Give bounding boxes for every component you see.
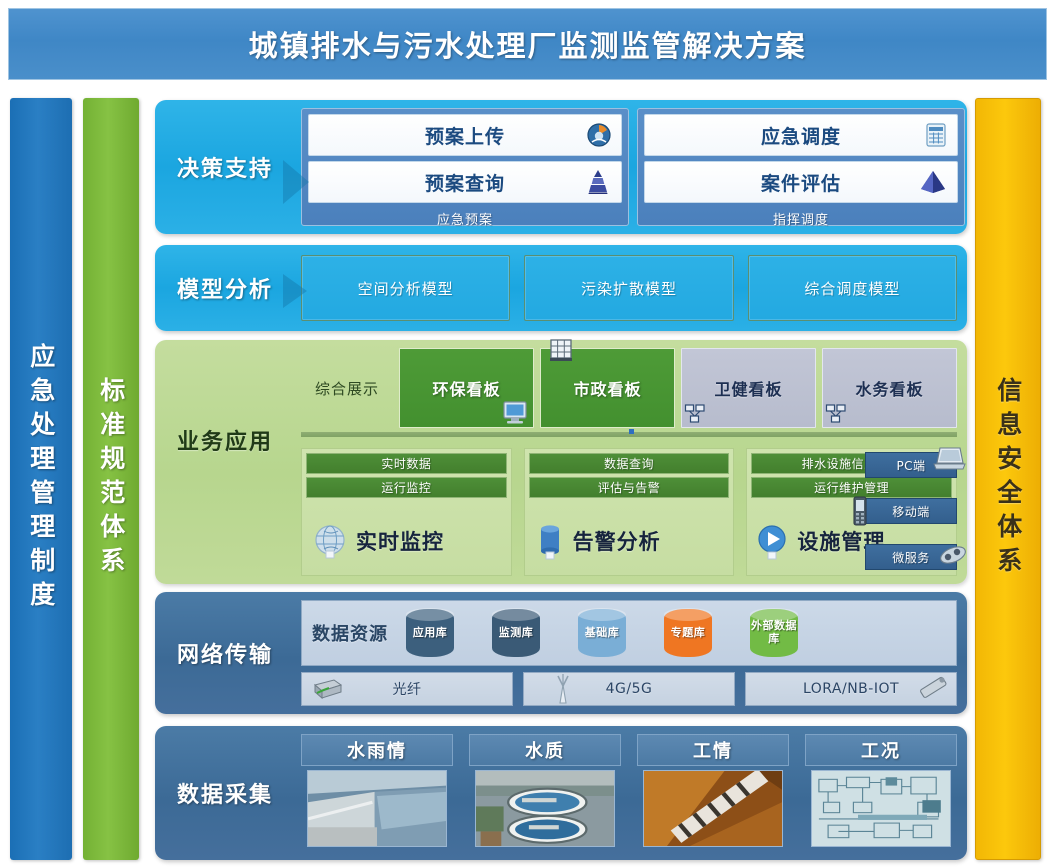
decision-group-command-dispatch-caption: 指挥调度	[644, 208, 958, 228]
app-footer-realtime-monitoring-label: 实时监控	[356, 526, 444, 556]
layer-model-analysis: 模型分析 空间分析模型 污染扩散模型 综合调度模型	[155, 245, 967, 331]
database-cylinder-external[interactable]: 外部数据库	[750, 609, 798, 657]
data-card-rainfall[interactable]: 水雨情	[301, 734, 453, 852]
app-head-operation-monitoring-label: 运行监控	[381, 479, 431, 496]
model-box-row: 空间分析模型 污染扩散模型 综合调度模型	[301, 255, 957, 321]
pipeline-trench-photo	[643, 770, 783, 847]
diagram-title-banner: 城镇排水与污水处理厂监测监管解决方案	[8, 8, 1047, 80]
device-button-microservice-label: 微服务	[892, 549, 930, 566]
sensor-icon	[914, 671, 952, 703]
app-head-operation-monitoring[interactable]: 运行监控	[306, 477, 507, 498]
dashboard-water-affairs[interactable]: 水务看板	[822, 348, 957, 428]
database-cylinder-basic-label: 基础库	[585, 627, 620, 640]
device-button-microservice[interactable]: 微服务	[865, 544, 957, 570]
transport-fiber[interactable]: 光纤	[301, 672, 513, 706]
antenna-icon	[552, 672, 574, 706]
layer-business-application: 业务应用 综合展示 环保看板 市政看板	[155, 340, 967, 584]
transport-4g5g-label: 4G/5G	[606, 681, 653, 697]
upload-plan-icon	[586, 122, 612, 148]
building-icon	[547, 337, 575, 363]
decision-group-emergency-plan-caption: 应急预案	[308, 208, 622, 228]
app-footer-alarm-analysis[interactable]: 告警分析	[529, 513, 730, 569]
globe-icon	[310, 521, 350, 561]
sedimentation-tanks-photo	[475, 770, 615, 847]
app-head-assessment-alarm[interactable]: 评估与告警	[529, 477, 730, 498]
device-button-mobile[interactable]: 移动端	[865, 498, 957, 524]
device-button-pc-label: PC端	[896, 457, 925, 474]
dashboard-environment[interactable]: 环保看板	[399, 348, 534, 428]
dashboard-water-affairs-label: 水务看板	[855, 376, 923, 400]
app-head-data-query[interactable]: 数据查询	[529, 453, 730, 474]
dashboard-health[interactable]: 卫健看板	[681, 348, 816, 428]
diamond-pyramid-icon	[918, 169, 948, 195]
app-group-realtime-monitoring: 实时数据 运行监控 实时监控	[301, 448, 512, 576]
network-nodes-icon	[684, 403, 706, 425]
decision-item-plan-upload[interactable]: 预案上传	[308, 114, 622, 156]
data-card-works-condition-label: 工情	[693, 737, 733, 763]
river-channel-photo	[307, 770, 447, 847]
microservice-icon	[936, 539, 968, 567]
layer-decision-support-label: 决策支持	[155, 100, 295, 234]
transport-lora-nbiot-label: LORA/NB-IOT	[803, 681, 899, 697]
mobile-phone-icon	[850, 495, 870, 527]
dashboard-health-label: 卫健看板	[714, 376, 782, 400]
app-head-data-query-label: 数据查询	[604, 455, 654, 472]
pillar-right-label: 信息安全体系	[994, 377, 1022, 581]
layer-model-analysis-label: 模型分析	[155, 245, 295, 331]
decision-item-plan-upload-label: 预案上传	[425, 122, 505, 149]
laptop-icon	[932, 445, 966, 473]
pyramid-chart-icon	[584, 169, 612, 195]
dashboard-municipal-label: 市政看板	[573, 376, 641, 400]
app-head-assessment-alarm-label: 评估与告警	[598, 479, 661, 496]
app-footer-alarm-analysis-label: 告警分析	[573, 526, 661, 556]
model-box-pollution-diffusion-label: 污染扩散模型	[581, 278, 677, 299]
data-card-works-condition-head: 工情	[637, 734, 789, 766]
pillar-emergency-management-system: 应急处理管理制度	[10, 98, 72, 860]
database-cylinder-external-label: 外部数据库	[750, 620, 798, 645]
dashboard-row: 综合展示 环保看板 市政看板	[301, 348, 957, 428]
architecture-diagram: 城镇排水与污水处理厂监测监管解决方案 应急处理管理制度 标准规范体系 信息安全体…	[0, 0, 1055, 868]
layer-business-application-label: 业务应用	[155, 400, 295, 480]
transport-4g5g[interactable]: 4G/5G	[523, 672, 735, 706]
dashboard-environment-label: 环保看板	[432, 376, 500, 400]
device-button-mobile-label: 移动端	[892, 503, 930, 520]
database-cylinder-thematic[interactable]: 专题库	[664, 609, 712, 657]
data-card-rainfall-label: 水雨情	[347, 737, 407, 763]
data-resource-caption: 数据资源	[312, 620, 388, 646]
data-acquisition-card-row: 水雨情 水质	[301, 734, 957, 852]
pillar-standards-specification-system: 标准规范体系	[83, 98, 139, 860]
dashboard-municipal[interactable]: 市政看板	[540, 348, 675, 428]
decision-group-emergency-plan: 预案上传 预案查询	[301, 108, 629, 226]
pillar-left-2-label: 标准规范体系	[97, 377, 125, 581]
database-icon	[533, 521, 567, 561]
pillar-information-security-system: 信息安全体系	[975, 98, 1041, 860]
model-box-integrated-dispatch[interactable]: 综合调度模型	[748, 255, 957, 321]
data-card-operating-status-head: 工况	[805, 734, 957, 766]
layer-network-transmission-label: 网络传输	[155, 592, 295, 714]
layer-data-acquisition-label: 数据采集	[155, 726, 295, 860]
data-card-operating-status[interactable]: 工况	[805, 734, 957, 852]
layer-decision-support: 决策支持 预案上传 预案查询	[155, 100, 967, 234]
scada-schematic-photo	[811, 770, 951, 847]
data-card-rainfall-head: 水雨情	[301, 734, 453, 766]
decision-item-plan-query-label: 预案查询	[425, 169, 505, 196]
database-cylinder-application[interactable]: 应用库	[406, 609, 454, 657]
decision-item-case-assessment[interactable]: 案件评估	[644, 161, 958, 203]
network-nodes-icon	[825, 403, 847, 425]
decision-group-command-dispatch: 应急调度 案件评估	[637, 108, 965, 226]
database-cylinder-basic[interactable]: 基础库	[578, 609, 626, 657]
play-circle-icon	[755, 521, 791, 561]
model-box-spatial-analysis[interactable]: 空间分析模型	[301, 255, 510, 321]
grid-table-icon	[924, 122, 948, 148]
app-footer-realtime-monitoring[interactable]: 实时监控	[306, 513, 507, 569]
model-box-integrated-dispatch-label: 综合调度模型	[804, 278, 900, 299]
app-group-alarm-analysis: 数据查询 评估与告警 告警分析	[524, 448, 735, 576]
app-head-realtime-data[interactable]: 实时数据	[306, 453, 507, 474]
monitor-icon	[501, 399, 529, 425]
model-box-spatial-analysis-label: 空间分析模型	[358, 278, 454, 299]
model-box-pollution-diffusion[interactable]: 污染扩散模型	[524, 255, 733, 321]
device-button-pc[interactable]: PC端	[865, 452, 957, 478]
database-cylinder-row: 应用库 监测库 基础库 专题库 外部数据库	[400, 609, 956, 657]
database-cylinder-monitoring[interactable]: 监测库	[492, 609, 540, 657]
data-card-water-quality-label: 水质	[525, 737, 565, 763]
decision-item-plan-query[interactable]: 预案查询	[308, 161, 622, 203]
decision-item-case-assessment-label: 案件评估	[761, 169, 841, 196]
data-card-operating-status-label: 工况	[861, 737, 901, 763]
decision-item-emergency-dispatch[interactable]: 应急调度	[644, 114, 958, 156]
data-card-water-quality-head: 水质	[469, 734, 621, 766]
transport-row: 光纤 4G/5G LORA/NB-IOT	[301, 672, 957, 706]
database-cylinder-application-label: 应用库	[413, 627, 448, 640]
pillar-left-1-label: 应急处理管理制度	[27, 343, 55, 615]
dashboard-divider	[301, 432, 957, 437]
app-head-realtime-data-label: 实时数据	[381, 455, 431, 472]
transport-fiber-label: 光纤	[393, 679, 422, 699]
database-cylinder-monitoring-label: 监测库	[499, 627, 534, 640]
page-title: 城镇排水与污水处理厂监测监管解决方案	[248, 23, 806, 65]
data-card-water-quality[interactable]: 水质	[469, 734, 621, 852]
dashboard-row-caption: 综合展示	[301, 348, 393, 428]
transport-lora-nbiot[interactable]: LORA/NB-IOT	[745, 672, 957, 706]
fiber-switch-icon	[310, 675, 344, 703]
layer-network-transmission: 网络传输 数据资源 应用库 监测库 基础库 专题库 外部数据库	[155, 592, 967, 714]
client-device-column: PC端 移动端	[865, 452, 957, 570]
layer-data-acquisition: 数据采集 水雨情	[155, 726, 967, 860]
data-resource-panel: 数据资源 应用库 监测库 基础库 专题库 外部数据库	[301, 600, 957, 666]
database-cylinder-thematic-label: 专题库	[671, 627, 706, 640]
data-card-works-condition[interactable]: 工情	[637, 734, 789, 852]
decision-item-emergency-dispatch-label: 应急调度	[761, 122, 841, 149]
